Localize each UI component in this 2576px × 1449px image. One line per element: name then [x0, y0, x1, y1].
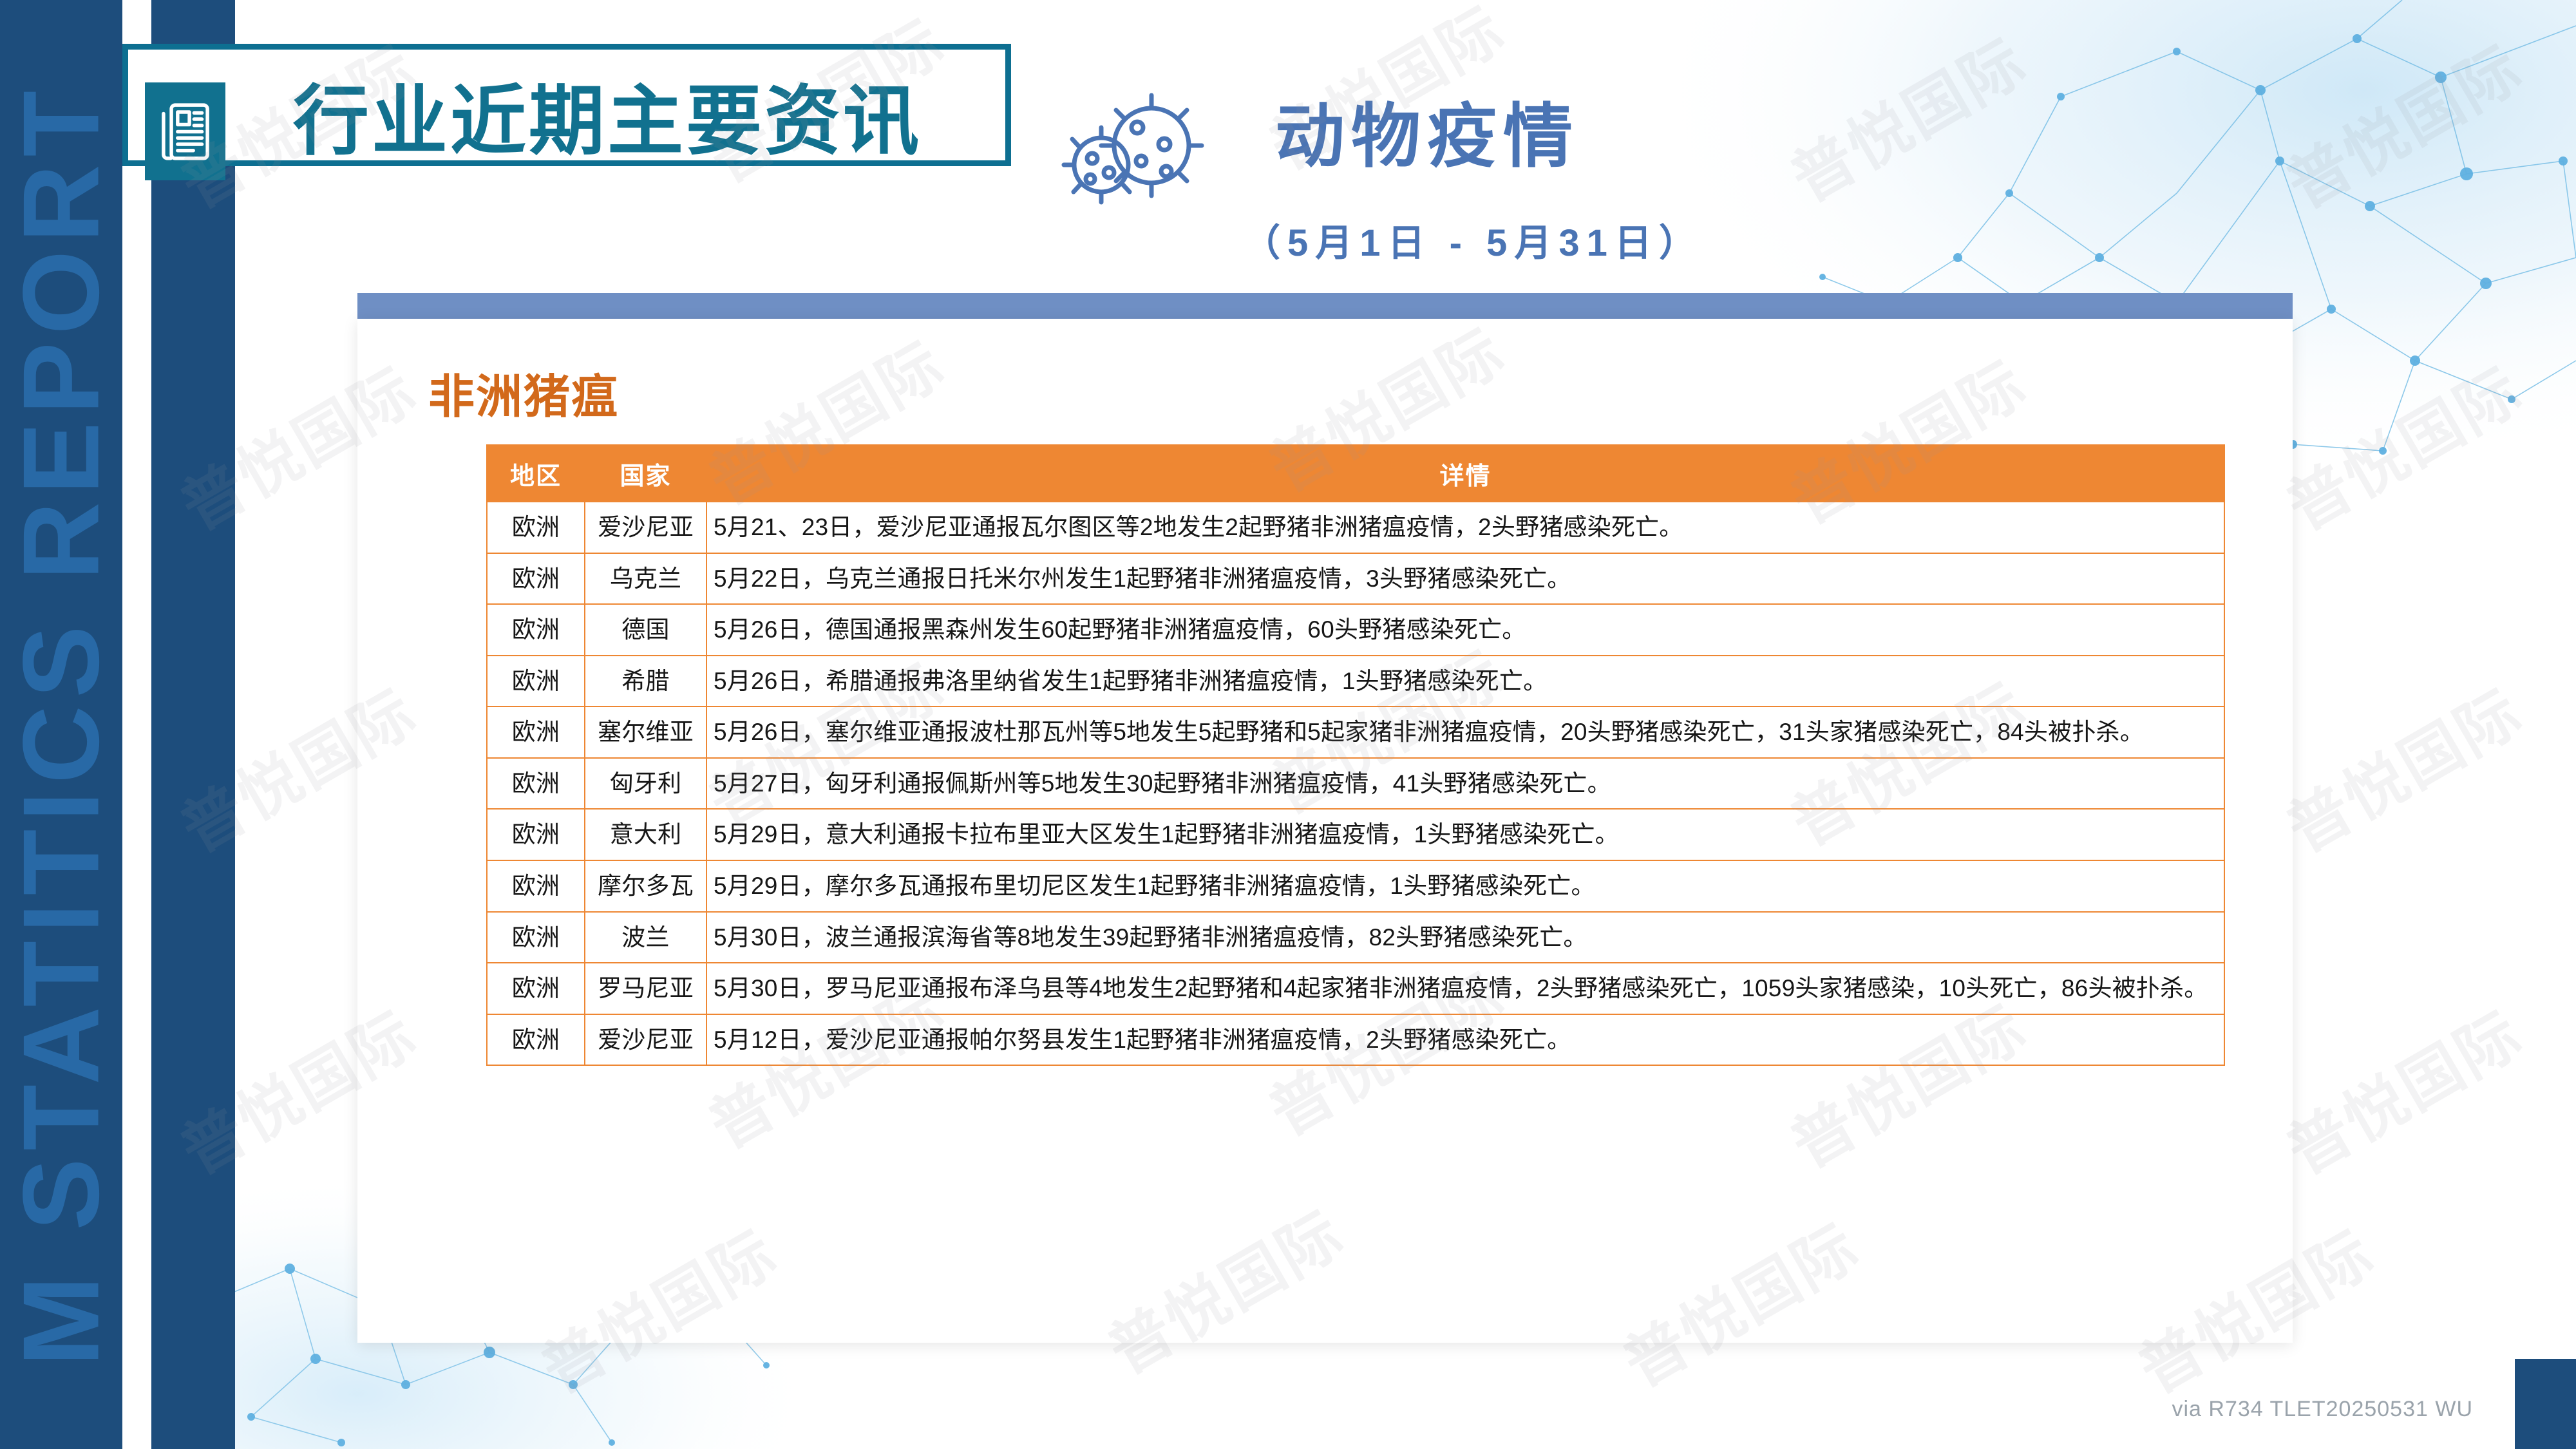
report-date-range: （5月1日 - 5月31日） [1243, 213, 1703, 267]
cell-region: 欧洲 [487, 706, 585, 758]
virus-icon [1061, 82, 1209, 205]
cell-detail: 5月12日，爱沙尼亚通报帕尔努县发生1起野猪非洲猪瘟疫情，2头野猪感染死亡。 [706, 1014, 2224, 1066]
cell-region: 欧洲 [487, 553, 585, 605]
column-header-country: 国家 [585, 445, 706, 502]
table-header-row: 地区 国家 详情 [487, 445, 2224, 502]
table-row: 欧洲希腊5月26日，希腊通报弗洛里纳省发生1起野猪非洲猪瘟疫情，1头野猪感染死亡… [487, 656, 2224, 707]
cell-region: 欧洲 [487, 860, 585, 912]
epidemic-table: 地区 国家 详情 欧洲爱沙尼亚5月21、23日，爱沙尼亚通报瓦尔图区等2地发生2… [486, 444, 2225, 1066]
cell-country: 摩尔多瓦 [585, 860, 706, 912]
cell-country: 罗马尼亚 [585, 963, 706, 1014]
cell-detail: 5月21、23日，爱沙尼亚通报瓦尔图区等2地发生2起野猪非洲猪瘟疫情，2头野猪感… [706, 502, 2224, 553]
cell-region: 欧洲 [487, 604, 585, 656]
column-header-detail: 详情 [706, 445, 2224, 502]
table-row: 欧洲塞尔维亚5月26日，塞尔维亚通报波杜那瓦州等5地发生5起野猪和5起家猪非洲猪… [487, 706, 2224, 758]
cell-country: 爱沙尼亚 [585, 1014, 706, 1066]
cell-country: 匈牙利 [585, 758, 706, 810]
cell-region: 欧洲 [487, 502, 585, 553]
table-row: 欧洲乌克兰5月22日，乌克兰通报日托米尔州发生1起野猪非洲猪瘟疫情，3头野猪感染… [487, 553, 2224, 605]
cell-detail: 5月29日，意大利通报卡拉布里亚大区发生1起野猪非洲猪瘟疫情，1头野猪感染死亡。 [706, 809, 2224, 860]
cell-region: 欧洲 [487, 656, 585, 707]
watermark-text: 普悦国际 [2268, 341, 2536, 547]
cell-region: 欧洲 [487, 912, 585, 963]
cell-country: 塞尔维亚 [585, 706, 706, 758]
cell-country: 爱沙尼亚 [585, 502, 706, 553]
footer-accent-block [2515, 1359, 2576, 1449]
footer-source-note: via R734 TLET20250531 WU [2172, 1397, 2473, 1422]
newspaper-icon [145, 82, 225, 180]
watermark-text: 普悦国际 [2268, 985, 2536, 1191]
table-row: 欧洲匈牙利5月27日，匈牙利通报佩斯州等5地发生30起野猪非洲猪瘟疫情，41头野… [487, 758, 2224, 810]
cell-region: 欧洲 [487, 758, 585, 810]
page-title: 行业近期主要资讯 [293, 59, 922, 169]
table-row: 欧洲爱沙尼亚5月21、23日，爱沙尼亚通报瓦尔图区等2地发生2起野猪非洲猪瘟疫情… [487, 502, 2224, 553]
cell-detail: 5月30日，波兰通报滨海省等8地发生39起野猪非洲猪瘟疫情，82头野猪感染死亡。 [706, 912, 2224, 963]
cell-detail: 5月26日，希腊通报弗洛里纳省发生1起野猪非洲猪瘟疫情，1头野猪感染死亡。 [706, 656, 2224, 707]
table-body: 欧洲爱沙尼亚5月21、23日，爱沙尼亚通报瓦尔图区等2地发生2起野猪非洲猪瘟疫情… [487, 502, 2224, 1065]
cell-region: 欧洲 [487, 1014, 585, 1066]
page-header: 行业近期主要资讯 [0, 0, 2576, 309]
cell-country: 意大利 [585, 809, 706, 860]
table-row: 欧洲意大利5月29日，意大利通报卡拉布里亚大区发生1起野猪非洲猪瘟疫情，1头野猪… [487, 809, 2224, 860]
cell-detail: 5月22日，乌克兰通报日托米尔州发生1起野猪非洲猪瘟疫情，3头野猪感染死亡。 [706, 553, 2224, 605]
cell-region: 欧洲 [487, 963, 585, 1014]
content-card: 非洲猪瘟 地区 国家 详情 欧洲爱沙尼亚5月21、23日，爱沙尼亚通报瓦尔图区等… [357, 319, 2293, 1343]
cell-country: 波兰 [585, 912, 706, 963]
cell-detail: 5月26日，塞尔维亚通报波杜那瓦州等5地发生5起野猪和5起家猪非洲猪瘟疫情，20… [706, 706, 2224, 758]
table-row: 欧洲爱沙尼亚5月12日，爱沙尼亚通报帕尔努县发生1起野猪非洲猪瘟疫情，2头野猪感… [487, 1014, 2224, 1066]
report-subtitle: 动物疫情 [1275, 80, 1579, 181]
table-row: 欧洲罗马尼亚5月30日，罗马尼亚通报布泽乌县等4地发生2起野猪和4起家猪非洲猪瘟… [487, 963, 2224, 1014]
table-row: 欧洲波兰5月30日，波兰通报滨海省等8地发生39起野猪非洲猪瘟疫情，82头野猪感… [487, 912, 2224, 963]
cell-detail: 5月27日，匈牙利通报佩斯州等5地发生30起野猪非洲猪瘟疫情，41头野猪感染死亡… [706, 758, 2224, 810]
watermark-text: 普悦国际 [2268, 663, 2536, 869]
column-header-region: 地区 [487, 445, 585, 502]
cell-detail: 5月26日，德国通报黑森州发生60起野猪非洲猪瘟疫情，60头野猪感染死亡。 [706, 604, 2224, 656]
cell-country: 乌克兰 [585, 553, 706, 605]
cell-detail: 5月29日，摩尔多瓦通报布里切尼区发生1起野猪非洲猪瘟疫情，1头野猪感染死亡。 [706, 860, 2224, 912]
cell-country: 德国 [585, 604, 706, 656]
table-row: 欧洲摩尔多瓦5月29日，摩尔多瓦通报布里切尼区发生1起野猪非洲猪瘟疫情，1头野猪… [487, 860, 2224, 912]
table-row: 欧洲德国5月26日，德国通报黑森州发生60起野猪非洲猪瘟疫情，60头野猪感染死亡… [487, 604, 2224, 656]
cell-region: 欧洲 [487, 809, 585, 860]
cell-detail: 5月30日，罗马尼亚通报布泽乌县等4地发生2起野猪和4起家猪非洲猪瘟疫情，2头野… [706, 963, 2224, 1014]
cell-country: 希腊 [585, 656, 706, 707]
section-title: 非洲猪瘟 [428, 359, 619, 426]
